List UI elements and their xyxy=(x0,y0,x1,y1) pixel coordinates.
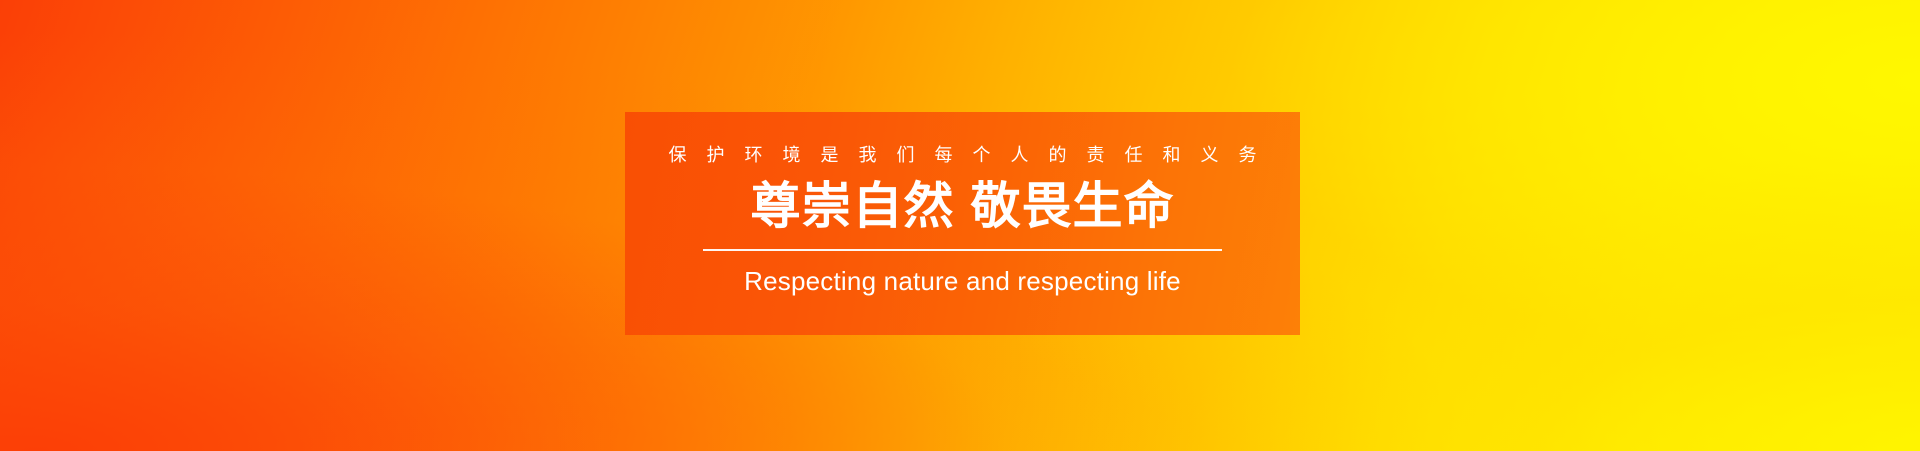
environmental-slogan-banner: 保 护 环 境 是 我 们 每 个 人 的 责 任 和 义 务 尊崇自然敬畏生命… xyxy=(0,0,1920,451)
divider-rule xyxy=(703,249,1222,251)
headline-right: 敬畏生命 xyxy=(971,178,1175,234)
slogan-panel-content: 保 护 环 境 是 我 们 每 个 人 的 责 任 和 义 务 尊崇自然敬畏生命… xyxy=(625,112,1300,335)
headline: 尊崇自然敬畏生命 xyxy=(751,181,1175,231)
eyebrow-text: 保 护 环 境 是 我 们 每 个 人 的 责 任 和 义 务 xyxy=(661,146,1264,164)
slogan-panel: 保 护 环 境 是 我 们 每 个 人 的 责 任 和 义 务 尊崇自然敬畏生命… xyxy=(625,112,1300,335)
subline-text: Respecting nature and respecting life xyxy=(744,268,1181,294)
headline-left: 尊崇自然 xyxy=(751,178,955,234)
